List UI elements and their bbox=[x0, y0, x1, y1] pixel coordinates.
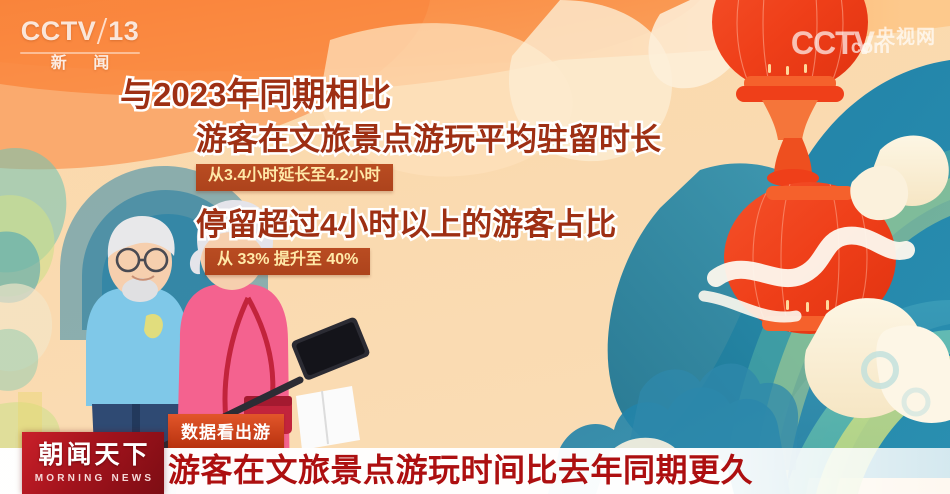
program-name-chinese: 朝闻天下 bbox=[35, 443, 150, 468]
stat-label-avg-stay: 游客在文旅景点游玩平均驻留时长 bbox=[196, 124, 700, 155]
stat-intro-line: 与2023年同期相比 bbox=[120, 78, 700, 111]
cctv-com-watermark: CCTV 央视网 com bbox=[791, 22, 936, 58]
stat-label-over4h: 停留超过4小时以上的游客占比 bbox=[196, 207, 616, 242]
stat-highlight-avg-stay-wrap: 从3.4小时延长至4.2小时 bbox=[196, 164, 700, 191]
stat-highlight-over4h-wrap: 从 33% 提升至 40% bbox=[205, 248, 700, 275]
cctv-wordmark: CCTV bbox=[21, 18, 97, 45]
watermark-com-text: com bbox=[851, 37, 890, 59]
program-name-english: MORNING NEWS bbox=[32, 473, 155, 484]
lower-third-headline: 游客在文旅景点游玩时间比去年同期更久 bbox=[168, 451, 753, 489]
channel-number: 13 bbox=[108, 18, 139, 45]
news-broadcast-frame: CCTV 13 新 闻 CCTV 央视网 com 与2023年同期相比 游客在文… bbox=[0, 0, 950, 494]
logo-slash-divider bbox=[97, 18, 107, 44]
stat-highlight-over4h: 从 33% 提升至 40% bbox=[205, 248, 370, 275]
program-logo-morning-news: 朝闻天下 MORNING NEWS bbox=[22, 432, 164, 494]
infographic-text-block: 与2023年同期相比 游客在文旅景点游玩平均驻留时长 从3.4小时延长至4.2小… bbox=[0, 78, 700, 275]
channel-logo-cctv13: CCTV 13 新 闻 bbox=[22, 16, 138, 74]
lower-third-kicker-badge: 数据看出游 bbox=[168, 414, 284, 448]
stat-highlight-avg-stay: 从3.4小时延长至4.2小时 bbox=[196, 164, 393, 191]
stat-label-over4h-wrap: 停留超过4小时以上的游客占比 bbox=[196, 209, 700, 240]
logo-underline bbox=[20, 52, 140, 54]
channel-logo-row: CCTV 13 bbox=[21, 18, 140, 45]
